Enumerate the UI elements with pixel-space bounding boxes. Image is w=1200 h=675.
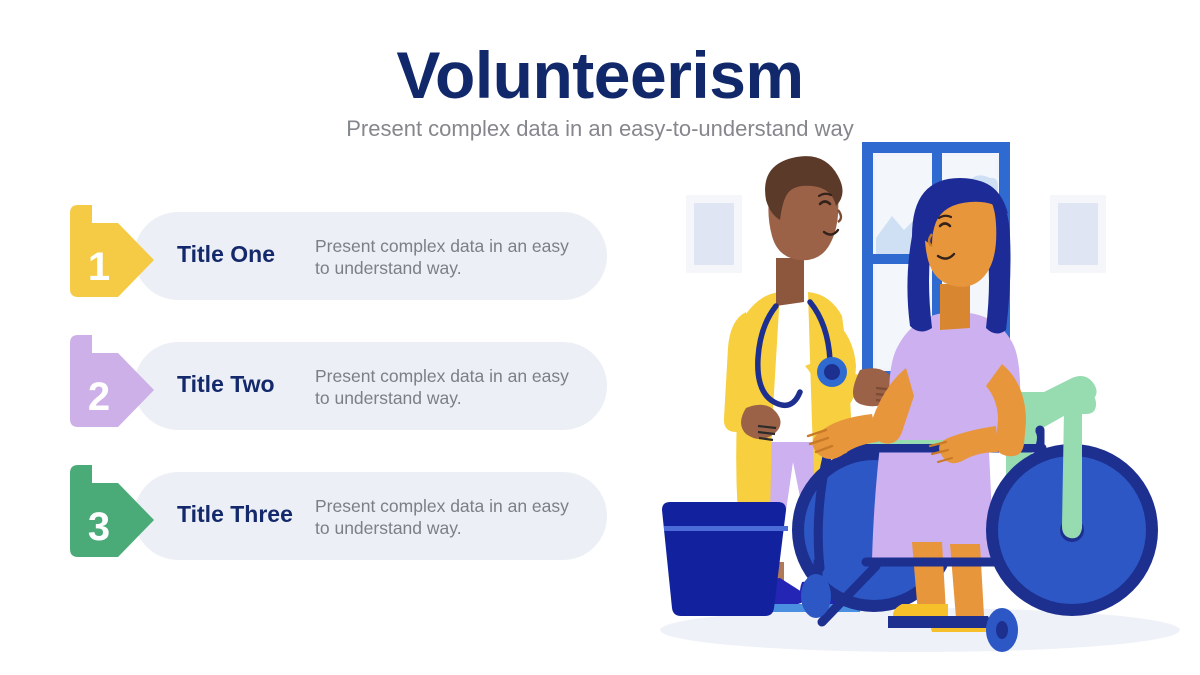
patient-legs — [912, 542, 946, 614]
list-item-description: Present complex data in an easy to under… — [315, 495, 575, 540]
list-item-title: Title One — [177, 243, 317, 266]
feature-list: 1 Title One Present complex data in an e… — [62, 205, 607, 595]
badge-number-1: 1 — [62, 205, 154, 315]
badge-number-label: 2 — [62, 335, 136, 445]
page-title: Volunteerism — [0, 42, 1200, 108]
badge-number-label: 3 — [62, 465, 136, 575]
wheelchair-footplate — [888, 616, 994, 628]
wheelchair-armrest — [1018, 392, 1096, 414]
slide-canvas: Volunteerism Present complex data in an … — [0, 0, 1200, 675]
wall-frame-left — [686, 195, 742, 273]
badge-number-2: 2 — [62, 335, 154, 445]
list-item-title: Title Two — [177, 373, 317, 396]
badge-number-label: 1 — [62, 205, 136, 315]
illustration-doctor-and-patient — [620, 130, 1200, 675]
list-item-description: Present complex data in an easy to under… — [315, 235, 575, 280]
wall-frame-right — [1050, 195, 1106, 273]
doctor-nose — [838, 210, 841, 222]
trash-bin — [662, 502, 788, 616]
list-item-description: Present complex data in an easy to under… — [315, 365, 575, 410]
wheelchair-caster — [801, 574, 831, 618]
list-item[interactable]: 3 Title Three Present complex data in an… — [62, 465, 607, 575]
list-item[interactable]: 2 Title Two Present complex data in an e… — [62, 335, 607, 445]
patient-neck — [940, 284, 970, 330]
badge-number-3: 3 — [62, 465, 154, 575]
list-item[interactable]: 1 Title One Present complex data in an e… — [62, 205, 607, 315]
doctor-neck — [776, 258, 804, 306]
list-item-title: Title Three — [177, 503, 317, 526]
header: Volunteerism Present complex data in an … — [0, 42, 1200, 140]
wheelchair-caster — [986, 608, 1018, 652]
